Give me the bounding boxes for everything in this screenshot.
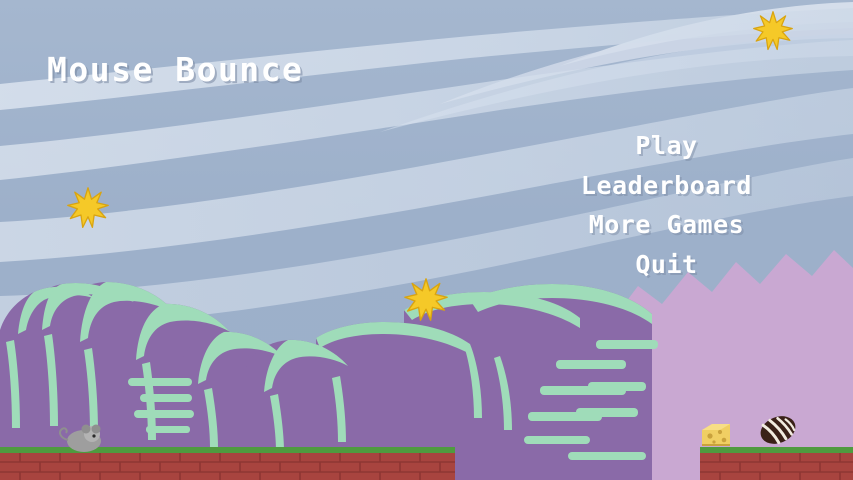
star-shape: [68, 188, 108, 228]
platform-left: [0, 447, 455, 480]
star-decoration-3[interactable]: [403, 277, 449, 327]
main-menu: Play Leaderboard More Games Quit: [577, 128, 756, 283]
menu-item-more-games[interactable]: More Games: [585, 207, 749, 244]
game-screen: Mouse Bounce Play Leaderboard More Games…: [0, 0, 853, 480]
platform-right: [700, 447, 853, 480]
star-decoration-1[interactable]: [752, 10, 794, 56]
star-shape: [405, 279, 447, 320]
menu-item-quit[interactable]: Quit: [631, 247, 701, 284]
star-decoration-2[interactable]: [66, 186, 110, 234]
menu-item-play[interactable]: Play: [631, 128, 701, 165]
star-shape: [754, 12, 793, 50]
menu-item-leaderboard[interactable]: Leaderboard: [577, 168, 756, 205]
game-title: Mouse Bounce: [47, 50, 303, 89]
